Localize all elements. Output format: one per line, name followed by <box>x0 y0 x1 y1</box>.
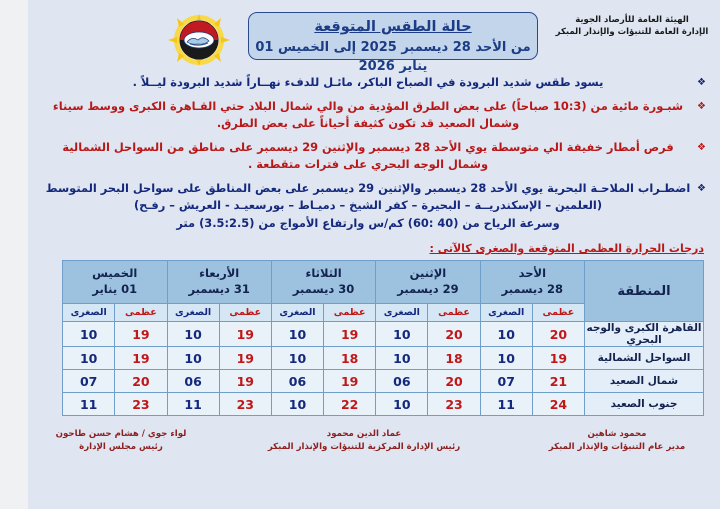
table-row: شمال الصعيد 21 07 20 06 19 06 19 06 20 0… <box>63 370 704 393</box>
bullet-item-temperature: ❖ يسود طقس شديد البرودة في الصباح الباكر… <box>42 74 706 92</box>
table-header-day-1: الإثنين 29 ديسمبر <box>376 261 480 304</box>
temp-min: 10 <box>63 322 115 347</box>
table-header-min-3: الصغرى <box>167 304 219 322</box>
temp-max: 19 <box>219 347 271 370</box>
temp-min: 06 <box>376 370 428 393</box>
day-name: الإثنين <box>376 266 479 282</box>
temp-min: 10 <box>271 322 323 347</box>
temp-min: 10 <box>271 393 323 416</box>
temp-min: 10 <box>63 347 115 370</box>
bullet-text-rain: فرص أمطار خفيفة الي متوسطة يوي الأحد 28 … <box>42 139 694 174</box>
bullet-text-marine: اضطـراب الملاحـة البحرية يوي الأحد 28 دي… <box>42 180 694 233</box>
bullet-line: وشمال الوجه البحري على فترات متقطعة . <box>42 156 694 174</box>
temp-max: 20 <box>532 322 584 347</box>
table-header-min-1: الصغرى <box>376 304 428 322</box>
bullet-text-fog: شبـورة مائية من (10:3 صباحاً) على بعض ال… <box>42 98 694 133</box>
day-date: 31 ديسمبر <box>168 282 271 298</box>
signature-block-0: محمود شاهين مدير عام التنبؤات والإنذار ا… <box>532 428 702 454</box>
temp-min: 10 <box>480 347 532 370</box>
document-footer: محمود شاهين مدير عام التنبؤات والإنذار ا… <box>28 416 720 454</box>
organization-department: الإدارة العامة للتنبؤات والإنذار المبكر <box>552 26 712 38</box>
temp-min: 07 <box>63 370 115 393</box>
bullet-marker-icon: ❖ <box>694 98 706 115</box>
forecast-document: الهيئة العامة للأرصاد الجوية الإدارة الع… <box>28 0 720 509</box>
temp-max: 19 <box>324 322 376 347</box>
temp-min: 11 <box>63 393 115 416</box>
table-header-min-0: الصغرى <box>480 304 532 322</box>
temp-max: 20 <box>115 370 167 393</box>
table-header-max-0: عظمى <box>532 304 584 322</box>
table-header-max-1: عظمى <box>428 304 480 322</box>
table-row: القاهرة الكبرى والوجه البحري 20 10 20 10… <box>63 322 704 347</box>
table-header-max-4: عظمى <box>115 304 167 322</box>
table-header-min-4: الصغرى <box>63 304 115 322</box>
temp-max: 20 <box>428 322 480 347</box>
day-date: 28 ديسمبر <box>481 282 584 298</box>
region-label: القاهرة الكبرى والوجه البحري <box>585 322 704 347</box>
temp-min: 10 <box>167 322 219 347</box>
table-header-region: المنطقة <box>585 261 704 322</box>
temp-min: 10 <box>376 322 428 347</box>
region-label: شمال الصعيد <box>585 370 704 393</box>
table-header-day-2: الثلاثاء 30 ديسمبر <box>271 261 375 304</box>
temp-max: 18 <box>324 347 376 370</box>
bullet-item-fog: ❖ شبـورة مائية من (10:3 صباحاً) على بعض … <box>42 98 706 133</box>
signatory-role: رئيس مجلس الإدارة <box>46 441 196 454</box>
table-row: جنوب الصعيد 24 11 23 10 22 10 23 11 23 1… <box>63 393 704 416</box>
bullet-line: شبـورة مائية من (10:3 صباحاً) على بعض ال… <box>42 98 694 116</box>
temp-max: 19 <box>219 322 271 347</box>
temp-max: 19 <box>532 347 584 370</box>
day-name: الأربعاء <box>168 266 271 282</box>
egypt-meteorological-authority-logo-icon <box>168 14 230 66</box>
document-header: الهيئة العامة للأرصاد الجوية الإدارة الع… <box>28 0 720 72</box>
temp-max: 19 <box>219 370 271 393</box>
temp-max: 20 <box>428 370 480 393</box>
bullet-line: يسود طقس شديد البرودة في الصباح الباكر، … <box>42 74 694 92</box>
bullet-line: اضطـراب الملاحـة البحرية يوي الأحد 28 دي… <box>42 180 694 198</box>
region-label: السواحل الشمالية <box>585 347 704 370</box>
temp-max: 23 <box>115 393 167 416</box>
table-header-min-2: الصغرى <box>271 304 323 322</box>
temp-min: 10 <box>167 347 219 370</box>
table-header-row-days: المنطقة الأحد 28 ديسمبر الإثنين 29 ديسمب… <box>63 261 704 304</box>
temp-max: 19 <box>115 347 167 370</box>
table-header-max-2: عظمى <box>324 304 376 322</box>
signatory-name: لواء جوي / هشام حسن طاحون <box>46 428 196 441</box>
temp-min: 10 <box>376 347 428 370</box>
title-box: حالة الطقس المتوقعة من الأحد 28 ديسمبر 2… <box>248 12 538 60</box>
temp-max: 22 <box>324 393 376 416</box>
bullet-item-rain: ❖ فرص أمطار خفيفة الي متوسطة يوي الأحد 2… <box>42 139 706 174</box>
temp-max: 18 <box>428 347 480 370</box>
temp-max: 19 <box>324 370 376 393</box>
bullet-line: فرص أمطار خفيفة الي متوسطة يوي الأحد 28 … <box>42 139 694 157</box>
temp-max: 21 <box>532 370 584 393</box>
bullet-line: وشمال الصعيد قد تكون كثيفة أحياناً على ب… <box>42 115 694 133</box>
bullet-line: وسرعة الرياح من (40 :60) كم/س وارتفاع ال… <box>42 215 694 233</box>
forecast-bullet-list: ❖ يسود طقس شديد البرودة في الصباح الباكر… <box>28 72 720 232</box>
temp-min: 11 <box>480 393 532 416</box>
temp-min: 11 <box>167 393 219 416</box>
organization-name: الهيئة العامة للأرصاد الجوية <box>552 14 712 26</box>
table-header-day-0: الأحد 28 ديسمبر <box>480 261 584 304</box>
bullet-marker-icon: ❖ <box>694 139 706 156</box>
temperature-forecast-table: المنطقة الأحد 28 ديسمبر الإثنين 29 ديسمب… <box>62 260 704 416</box>
temp-min: 06 <box>167 370 219 393</box>
day-date: 30 ديسمبر <box>272 282 375 298</box>
temp-min: 10 <box>271 347 323 370</box>
temp-max: 23 <box>219 393 271 416</box>
bullet-item-marine: ❖ اضطـراب الملاحـة البحرية يوي الأحد 28 … <box>42 180 706 233</box>
signatory-name: عماد الدين محمود <box>244 428 484 441</box>
table-header-day-4: الخميس 01 يناير <box>63 261 168 304</box>
temp-max: 23 <box>428 393 480 416</box>
table-row: السواحل الشمالية 19 10 18 10 18 10 19 10… <box>63 347 704 370</box>
bullet-line: (العلمين – الإسكندريــة – البحيرة – كفر … <box>42 197 694 215</box>
table-header-day-3: الأربعاء 31 ديسمبر <box>167 261 271 304</box>
day-name: الأحد <box>481 266 584 282</box>
temp-max: 19 <box>115 322 167 347</box>
signatory-name: محمود شاهين <box>532 428 702 441</box>
organization-block: الهيئة العامة للأرصاد الجوية الإدارة الع… <box>552 14 712 39</box>
day-name: الثلاثاء <box>272 266 375 282</box>
signature-block-2: لواء جوي / هشام حسن طاحون رئيس مجلس الإد… <box>46 428 196 454</box>
day-name: الخميس <box>63 266 167 282</box>
forecast-date-range: من الأحد 28 ديسمبر 2025 إلى الخميس 01 ين… <box>249 39 537 77</box>
temp-min: 06 <box>271 370 323 393</box>
day-date: 01 يناير <box>63 282 167 298</box>
temp-min: 10 <box>480 322 532 347</box>
temperature-table-wrapper: المنطقة الأحد 28 ديسمبر الإثنين 29 ديسمب… <box>28 260 720 416</box>
bullet-marker-icon: ❖ <box>694 74 706 91</box>
temp-min: 07 <box>480 370 532 393</box>
region-label: جنوب الصعيد <box>585 393 704 416</box>
temp-min: 10 <box>376 393 428 416</box>
day-date: 29 ديسمبر <box>376 282 479 298</box>
bullet-text-temperature: يسود طقس شديد البرودة في الصباح الباكر، … <box>42 74 694 92</box>
signatory-role: رئيس الإدارة المركزية للتنبؤات والإنذار … <box>244 441 484 454</box>
temperature-table-intro: درجات الحرارة العظمى المتوقعة والصغرى كا… <box>28 238 720 260</box>
page-title: حالة الطقس المتوقعة <box>249 17 537 39</box>
table-header-max-3: عظمى <box>219 304 271 322</box>
signatory-role: مدير عام التنبؤات والإنذار المبكر <box>532 441 702 454</box>
bullet-marker-icon: ❖ <box>694 180 706 197</box>
signature-block-1: عماد الدين محمود رئيس الإدارة المركزية ل… <box>244 428 484 454</box>
temp-max: 24 <box>532 393 584 416</box>
